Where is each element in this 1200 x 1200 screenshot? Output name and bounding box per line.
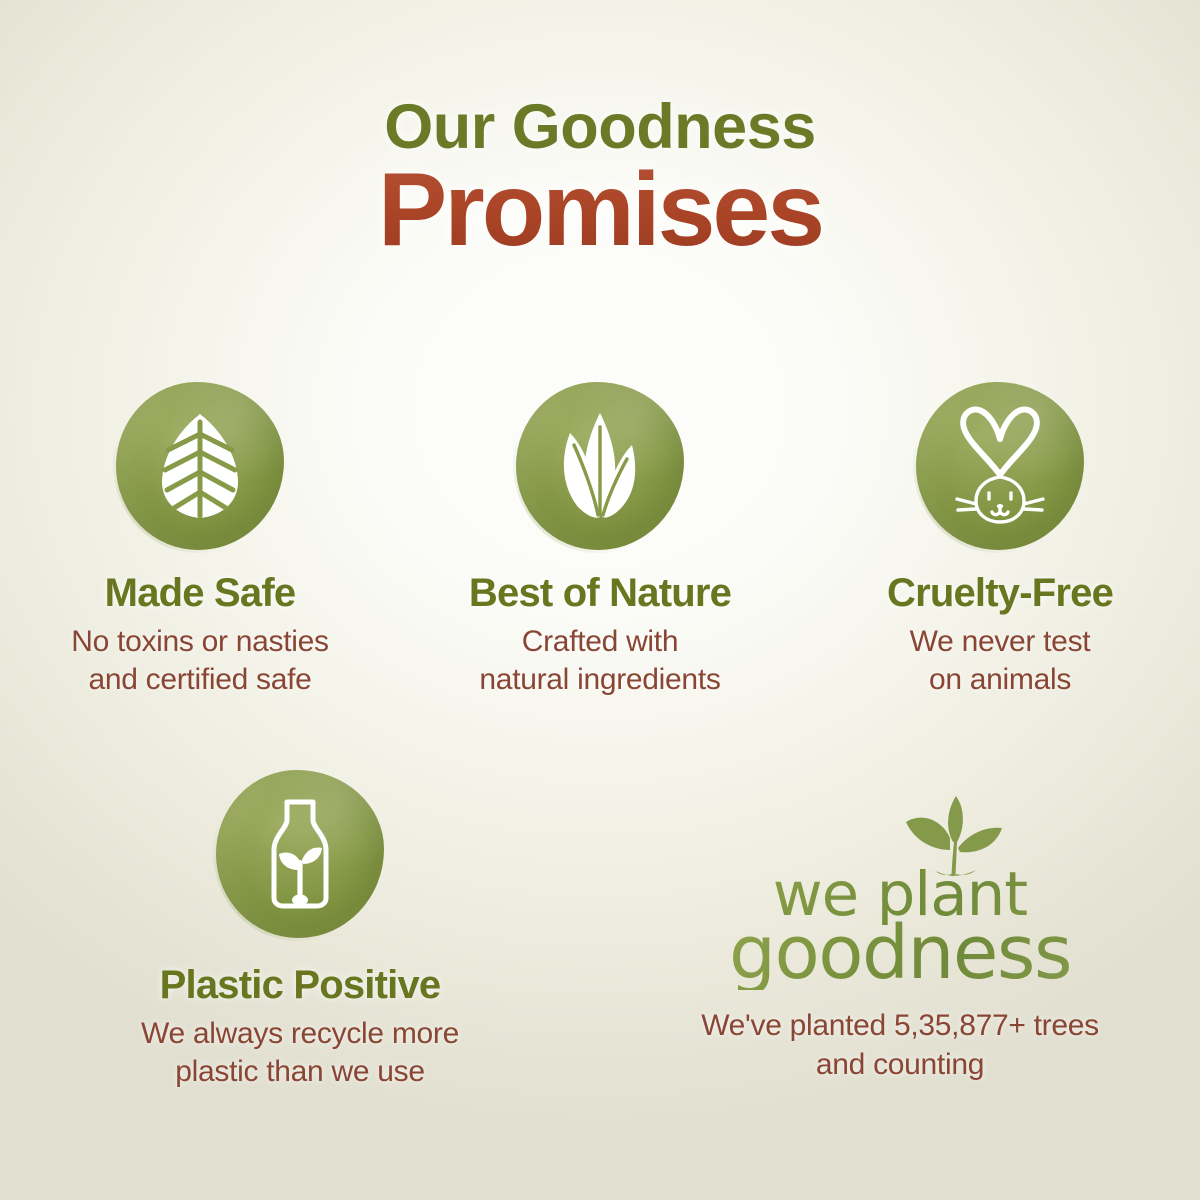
three-leaves-icon <box>548 411 652 521</box>
title-line-one: Our Goodness <box>0 96 1200 159</box>
promise-desc-line-1: Crafted with <box>479 623 720 661</box>
badge-cruelty-free <box>916 382 1084 550</box>
logo-line-two: goodness <box>700 916 1100 990</box>
promises-row-top: Made Safe No toxins or nasties and certi… <box>0 382 1200 700</box>
promise-title: Cruelty-Free <box>887 572 1113 614</box>
promises-row-bottom: Plastic Positive We always recycle more … <box>0 770 1200 1092</box>
badge-best-of-nature <box>516 382 684 550</box>
promise-description: No toxins or nasties and certified safe <box>71 623 328 700</box>
trees-caption-line-2: and counting <box>701 1045 1099 1084</box>
promise-desc-line-2: plastic than we use <box>141 1053 459 1091</box>
promise-card-cruelty-free: Cruelty-Free We never test on animals <box>800 382 1200 700</box>
trees-planted-caption: We've planted 5,35,877+ trees and counti… <box>701 1006 1099 1084</box>
leaf-icon <box>154 412 246 520</box>
badge-plastic-positive <box>216 770 384 938</box>
promise-desc-line-1: We always recycle more <box>141 1015 459 1053</box>
promise-desc-line-1: We never test <box>910 623 1091 661</box>
promise-description: We always recycle more plastic than we u… <box>141 1015 459 1092</box>
promise-title: Made Safe <box>105 572 296 614</box>
promise-description: We never test on animals <box>910 623 1091 700</box>
badge-made-safe <box>116 382 284 550</box>
trees-caption-line-1: We've planted 5,35,877+ trees <box>701 1006 1099 1045</box>
promises-poster: Our Goodness Promises Made Saf <box>0 0 1200 1200</box>
page-title: Our Goodness Promises <box>0 96 1200 260</box>
we-plant-goodness-logo: we plant goodness <box>700 794 1100 990</box>
we-plant-goodness-panel: we plant goodness We've planted 5,35,877… <box>600 770 1200 1092</box>
promise-desc-line-2: and certified safe <box>71 661 328 699</box>
promise-desc-line-1: No toxins or nasties <box>71 623 328 661</box>
promise-title: Best of Nature <box>469 572 731 614</box>
bunny-heart-ears-icon <box>945 405 1055 527</box>
bottle-sprout-icon <box>254 798 346 910</box>
promise-title: Plastic Positive <box>160 964 441 1006</box>
promise-desc-line-2: natural ingredients <box>479 661 720 699</box>
title-line-two: Promises <box>0 161 1200 260</box>
promise-desc-line-2: on animals <box>910 661 1091 699</box>
promise-card-best-of-nature: Best of Nature Crafted with natural ingr… <box>400 382 800 700</box>
promise-card-plastic-positive: Plastic Positive We always recycle more … <box>0 770 600 1092</box>
promise-card-made-safe: Made Safe No toxins or nasties and certi… <box>0 382 400 700</box>
promise-description: Crafted with natural ingredients <box>479 623 720 700</box>
